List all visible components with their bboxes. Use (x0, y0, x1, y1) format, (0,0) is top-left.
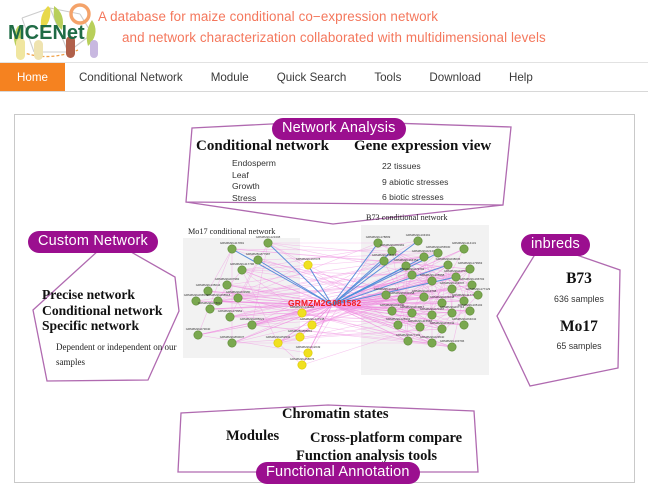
logo-wordmark: MCENet (8, 22, 85, 44)
network-node-label: GRMZM2G163237 (440, 281, 465, 285)
nav-item-tools[interactable]: Tools (360, 63, 415, 91)
network-node[interactable] (466, 307, 474, 315)
custom-network-item: Precise network (42, 287, 182, 303)
gene-expression-item: 22 tissues (382, 159, 448, 175)
network-node-label: GRMZM2G127948 (300, 317, 325, 321)
network-node[interactable] (274, 339, 282, 347)
network-node-label: GRMZM2G170952 (218, 309, 243, 313)
network-node[interactable] (428, 339, 436, 347)
inbred-samples-mo17: 65 samples (524, 341, 634, 351)
network-node-label: GRMZM2G007982 (215, 277, 240, 281)
chromatin-states-label: Chromatin states (282, 406, 388, 423)
network-node-label: GRMZM2G077109 (396, 333, 421, 337)
tagline-line-2: and network characterization collaborate… (98, 27, 646, 48)
network-node-label: GRMZM2G080381 (380, 243, 405, 247)
network-node[interactable] (460, 245, 468, 253)
network-node[interactable] (394, 321, 402, 329)
badge-inbreds[interactable]: inbreds (521, 234, 590, 256)
network-node-label: GRMZM2G179963 (458, 261, 483, 265)
network-node[interactable] (254, 256, 262, 264)
network-figure[interactable]: Mo17 conditional network B73 conditional… (180, 213, 490, 375)
panel-custom-network: Precise network Conditional network Spec… (42, 287, 182, 334)
nav-item-download[interactable]: Download (415, 63, 495, 91)
logo-artwork: MCENet (4, 0, 108, 64)
conditional-network-item: Endosperm (232, 158, 276, 170)
network-node-label: GRMZM2G021407 (412, 249, 437, 253)
inbred-name-b73: B73 (524, 270, 634, 288)
network-node[interactable] (388, 307, 396, 315)
network-node-label: GRMZM2G164451 (394, 258, 419, 262)
network-node[interactable] (226, 313, 234, 321)
tagline-line-1: A database for maize conditional co−expr… (98, 6, 646, 27)
network-node-label: GRMZM2G085021 (240, 317, 265, 321)
network-node-label: GRMZM2G103796 (440, 339, 465, 343)
network-node-label: GRMZM2G034042 (430, 321, 455, 325)
network-node[interactable] (448, 343, 456, 351)
network-node[interactable] (408, 271, 416, 279)
network-node-label: GRMZM2G013798 (412, 289, 437, 293)
network-node-label: GRMZM2G078610 (198, 301, 223, 305)
network-node-label: GRMZM2G125932 (386, 317, 411, 321)
network-node[interactable] (206, 305, 214, 313)
gene-expression-item: 9 abiotic stresses (382, 175, 448, 191)
center-gene-label: GRMZM2G081582 (288, 298, 361, 308)
network-node[interactable] (414, 237, 422, 245)
network-node[interactable] (238, 266, 246, 274)
network-node[interactable] (420, 293, 428, 301)
network-node-label: GRMZM2G105568 (420, 273, 445, 277)
network-node-label: GRMZM2G123408 (256, 235, 281, 239)
network-node[interactable] (296, 333, 304, 341)
network-node-label: GRMZM2G117891 (220, 241, 245, 245)
network-node-label: GRMZM2G197078 (296, 257, 321, 261)
network-node-label: GRMZM2G052542 (266, 335, 291, 339)
network-node[interactable] (234, 294, 242, 302)
network-node[interactable] (194, 331, 202, 339)
network-node[interactable] (380, 257, 388, 265)
custom-network-list: Precise network Conditional network Spec… (42, 287, 182, 334)
conditional-network-item: Growth (232, 181, 276, 193)
network-node[interactable] (304, 261, 312, 269)
network-node-label: GRMZM2G135044 (196, 283, 221, 287)
custom-network-note: Dependent or independent on our samples (56, 340, 178, 370)
network-node-label: GRMZM2G047502 (444, 269, 469, 273)
inbred-samples-b73: 636 samples (524, 294, 634, 304)
network-node[interactable] (438, 325, 446, 333)
network-node-label: GRMZM2G056530 (426, 245, 451, 249)
network-node[interactable] (228, 339, 236, 347)
network-node-label: GRMZM2G079792 (400, 267, 425, 271)
conditional-network-title: Conditional network (196, 138, 329, 155)
nav-item-quick-search[interactable]: Quick Search (263, 63, 361, 91)
network-node-label: GRMZM2G012649 (296, 345, 321, 349)
network-node-label: GRMZM5G888881 (288, 329, 313, 333)
network-node-label: GRMZM2G117796 (230, 262, 255, 266)
badge-network-analysis[interactable]: Network Analysis (272, 118, 406, 140)
network-node-label: GRMZM2G114131 (452, 241, 477, 245)
gene-expression-view-title: Gene expression view (354, 138, 491, 155)
network-node-label: GRMZM2G105102 (458, 303, 483, 307)
network-node[interactable] (420, 253, 428, 261)
nav-item-help[interactable]: Help (495, 63, 547, 91)
network-node-label: GRMZM2G177129 (466, 287, 490, 291)
network-node-label: GRMZM2G860037 (220, 335, 245, 339)
nav-item-module[interactable]: Module (197, 63, 263, 91)
nav-item-conditional-network[interactable]: Conditional Network (65, 63, 197, 91)
network-node[interactable] (228, 245, 236, 253)
modules-label: Modules (226, 428, 279, 445)
badge-functional-annotation[interactable]: Functional Annotation (256, 462, 420, 484)
network-graph[interactable]: GRMZM2G117891GRMZM2G123408GRMZM5G877987G… (180, 213, 490, 375)
network-node-label: GRMZM5G877987 (246, 252, 271, 256)
nav-item-home[interactable]: Home (0, 63, 65, 91)
custom-network-item: Specific network (42, 318, 182, 334)
network-node[interactable] (460, 321, 468, 329)
network-node-label: GRMZM2G104391 (406, 233, 431, 237)
panel-inbreds: B73 636 samples Mo17 65 samples (524, 270, 634, 351)
network-node-label: GRMZM2G148714 (372, 253, 397, 257)
custom-network-item: Conditional network (42, 303, 182, 319)
cross-platform-compare-label: Cross-platform compare (310, 430, 462, 447)
conditional-network-list: Endosperm Leaf Growth Stress (232, 158, 276, 204)
nav-list: Home Conditional Network Module Quick Se… (0, 63, 648, 91)
network-node[interactable] (223, 281, 231, 289)
site-tagline: A database for maize conditional co−expr… (98, 6, 646, 48)
network-node[interactable] (428, 277, 436, 285)
network-node-label: GRMZM2G196702 (460, 277, 485, 281)
gene-expression-item: 6 biotic stresses (382, 190, 448, 206)
conditional-network-item: Stress (232, 193, 276, 205)
mcenet-logo[interactable]: MCENet (4, 0, 108, 64)
inbred-name-mo17: Mo17 (524, 318, 634, 336)
network-node-label: GRMZM2G033980 (226, 290, 251, 294)
network-node-label: GRMZM2G064042 (452, 317, 477, 321)
network-node-label: GRMZM2G039248 (430, 295, 455, 299)
network-node-label: GRMZM2G178809 (366, 235, 391, 239)
network-node[interactable] (404, 337, 412, 345)
network-node-label: GRMZM2G158076 (290, 357, 315, 361)
main-navigation: Home Conditional Network Module Quick Se… (0, 62, 648, 92)
network-node[interactable] (474, 291, 482, 299)
badge-custom-network[interactable]: Custom Network (28, 231, 158, 253)
network-node-label: GRMZM2G073040 (186, 327, 211, 331)
network-node[interactable] (466, 265, 474, 273)
page-header: MCENet A database for maize conditional … (0, 0, 648, 62)
network-node[interactable] (264, 239, 272, 247)
network-node[interactable] (416, 323, 424, 331)
network-node[interactable] (298, 361, 306, 369)
gene-expression-view-list: 22 tissues 9 abiotic stresses 6 biotic s… (382, 159, 448, 206)
network-node[interactable] (248, 321, 256, 329)
network-node-label: GRMZM2G117799 (452, 293, 477, 297)
conditional-network-item: Leaf (232, 170, 276, 182)
